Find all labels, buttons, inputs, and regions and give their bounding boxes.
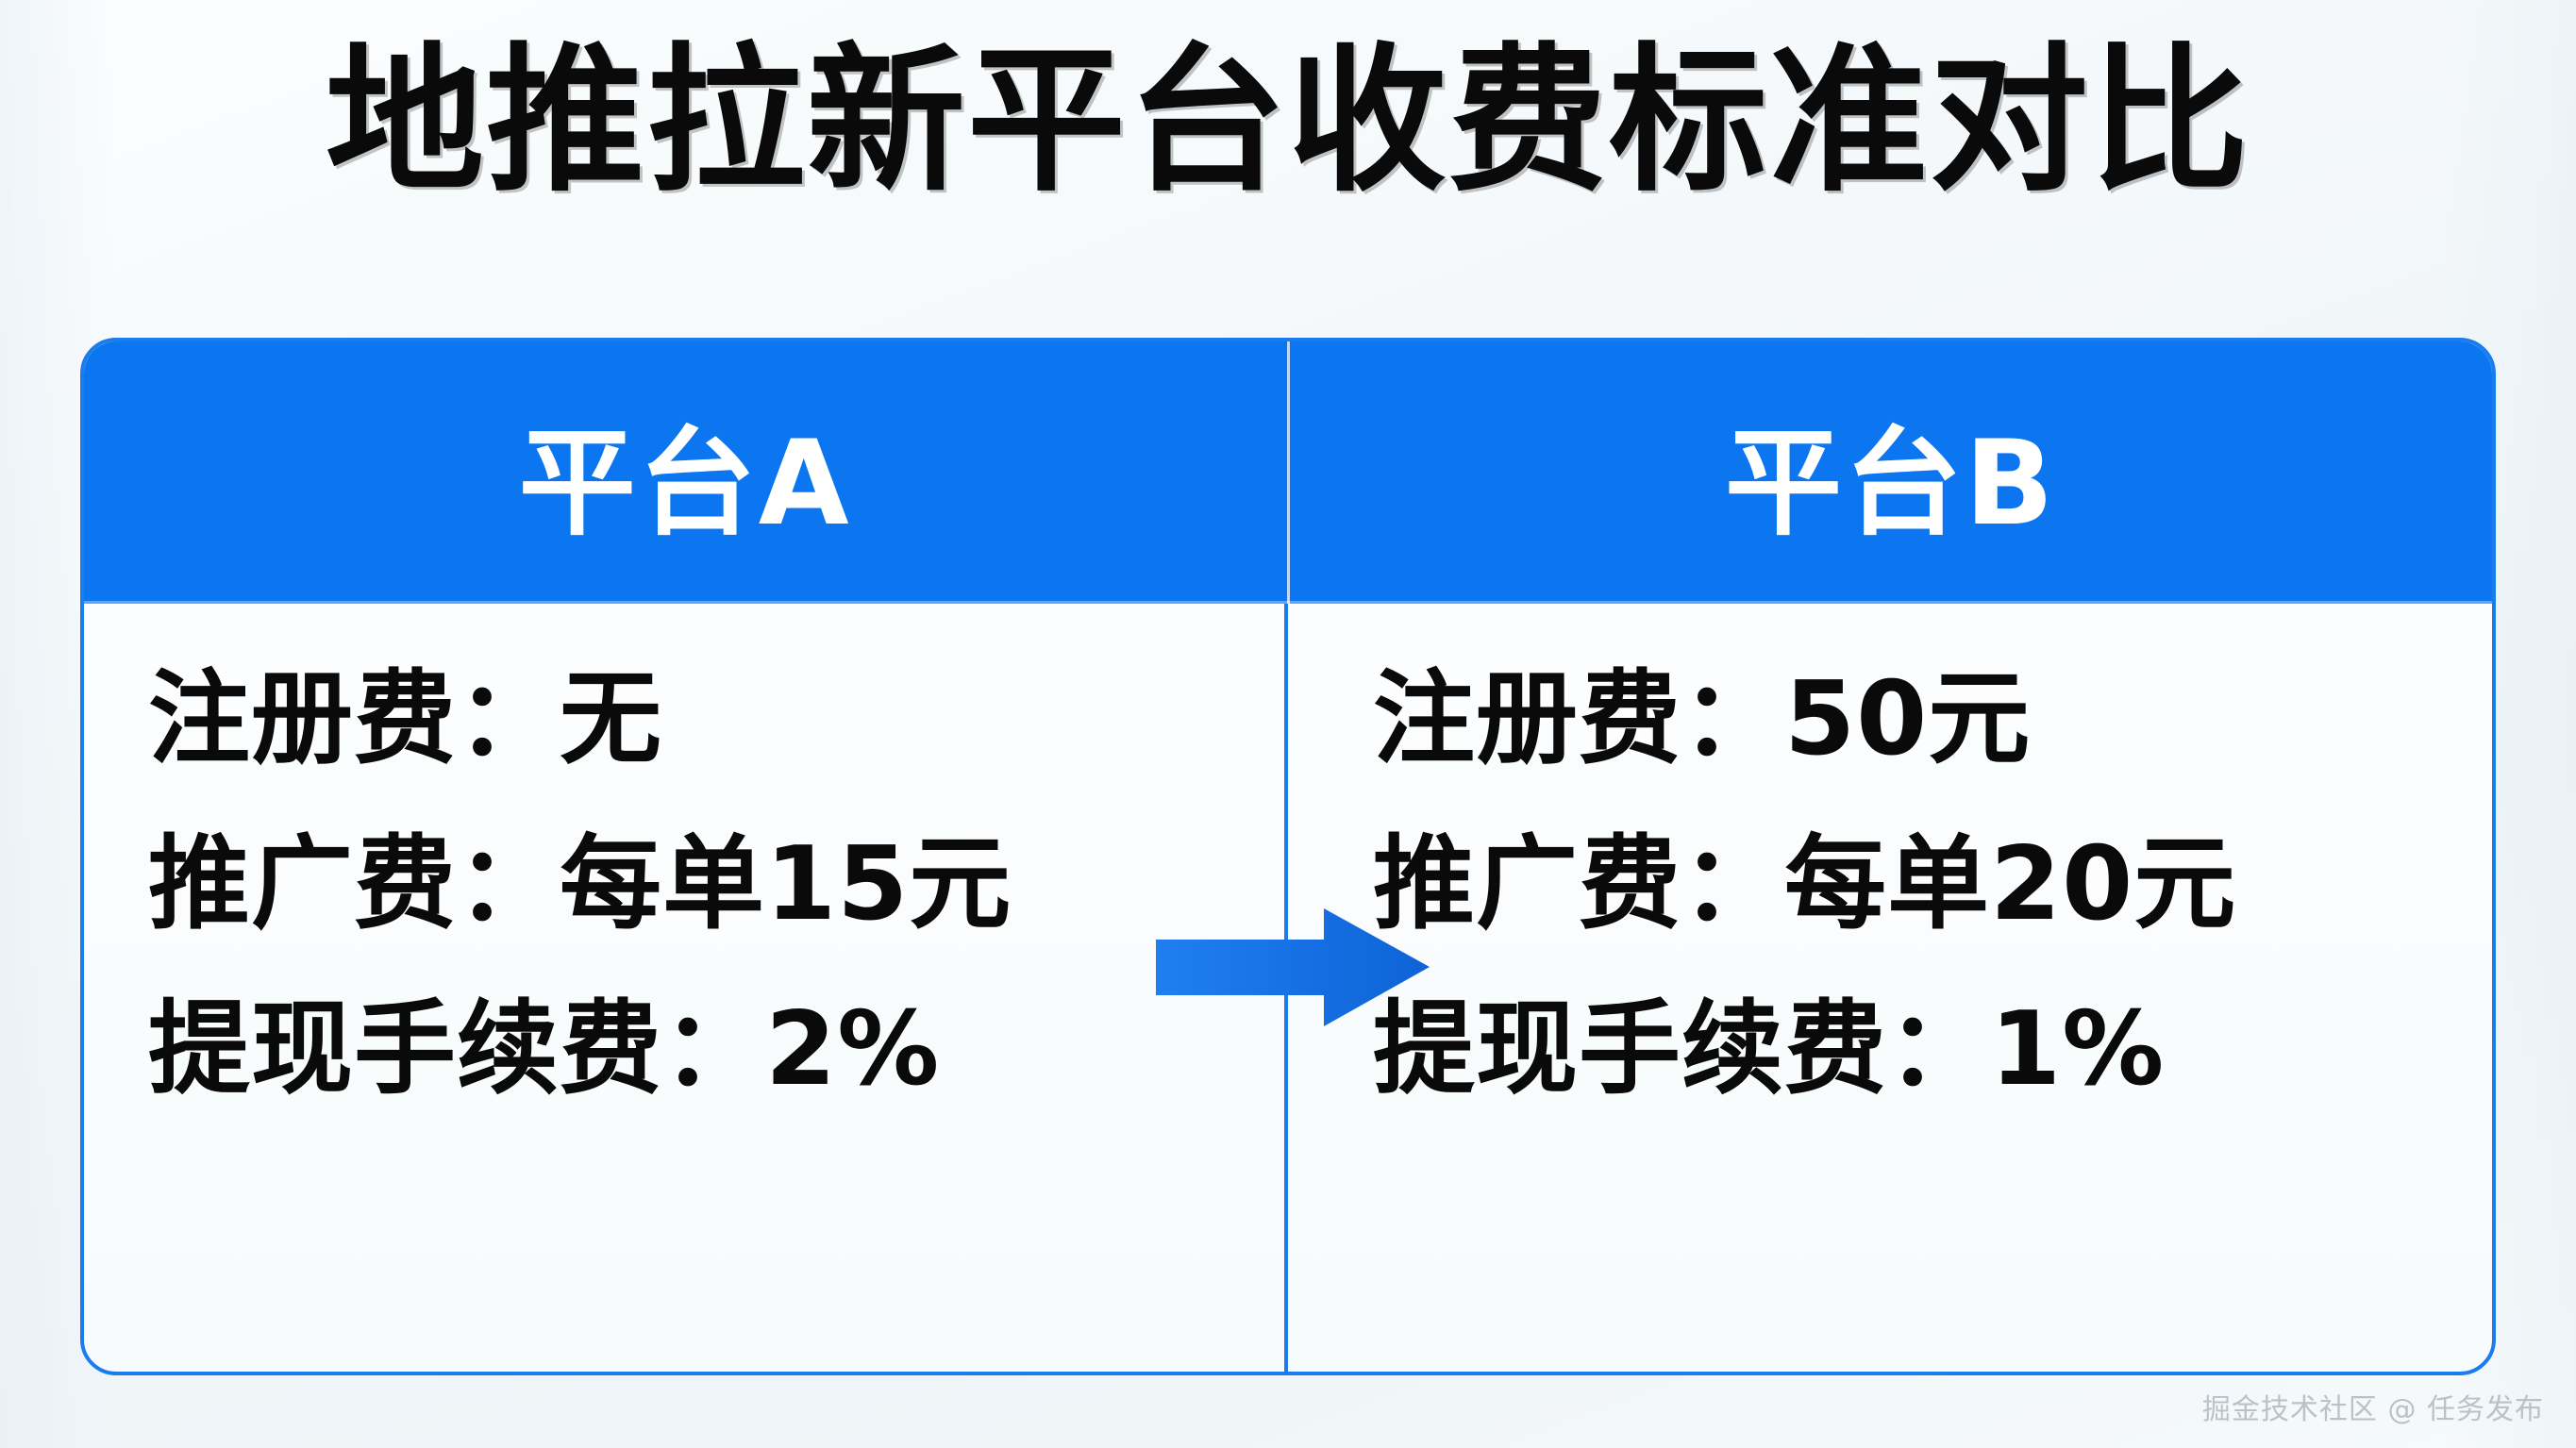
column-header-platform-b: 平台B: [1290, 341, 2493, 604]
comparison-card-inner: 平台A 平台B 注册费：无 推广费：每单15元 提现手续费：2% 注册费：50元…: [84, 341, 2492, 1372]
arrow-right-icon: [1156, 908, 1430, 1026]
comparison-card: 平台A 平台B 注册费：无 推广费：每单15元 提现手续费：2% 注册费：50元…: [80, 338, 2496, 1375]
fee-line-promotion-a: 推广费：每单15元: [148, 803, 1012, 968]
slide-canvas: 地推拉新平台收费标准对比 平台A 平台B 注册费：无 推广费：每单15元 提现手…: [0, 0, 2576, 1448]
column-body-platform-b: 注册费：50元 推广费：每单20元 提现手续费：1%: [1288, 604, 2492, 1372]
watermark: 掘金技术社区 @ 任务发布: [2202, 1386, 2544, 1427]
fee-line-registration-b: 注册费：50元: [1373, 638, 2031, 803]
column-header-platform-a: 平台A: [84, 341, 1290, 604]
page-title: 地推拉新平台收费标准对比: [0, 36, 2576, 207]
fee-line-withdrawal-a: 提现手续费：2%: [148, 968, 940, 1133]
fee-line-withdrawal-b: 提现手续费：1%: [1373, 968, 2165, 1133]
fee-line-registration-a: 注册费：无: [148, 638, 662, 803]
column-body-platform-a: 注册费：无 推广费：每单15元 提现手续费：2%: [84, 604, 1288, 1372]
comparison-header-row: 平台A 平台B: [84, 341, 2492, 604]
fee-line-promotion-b: 推广费：每单20元: [1373, 803, 2236, 968]
